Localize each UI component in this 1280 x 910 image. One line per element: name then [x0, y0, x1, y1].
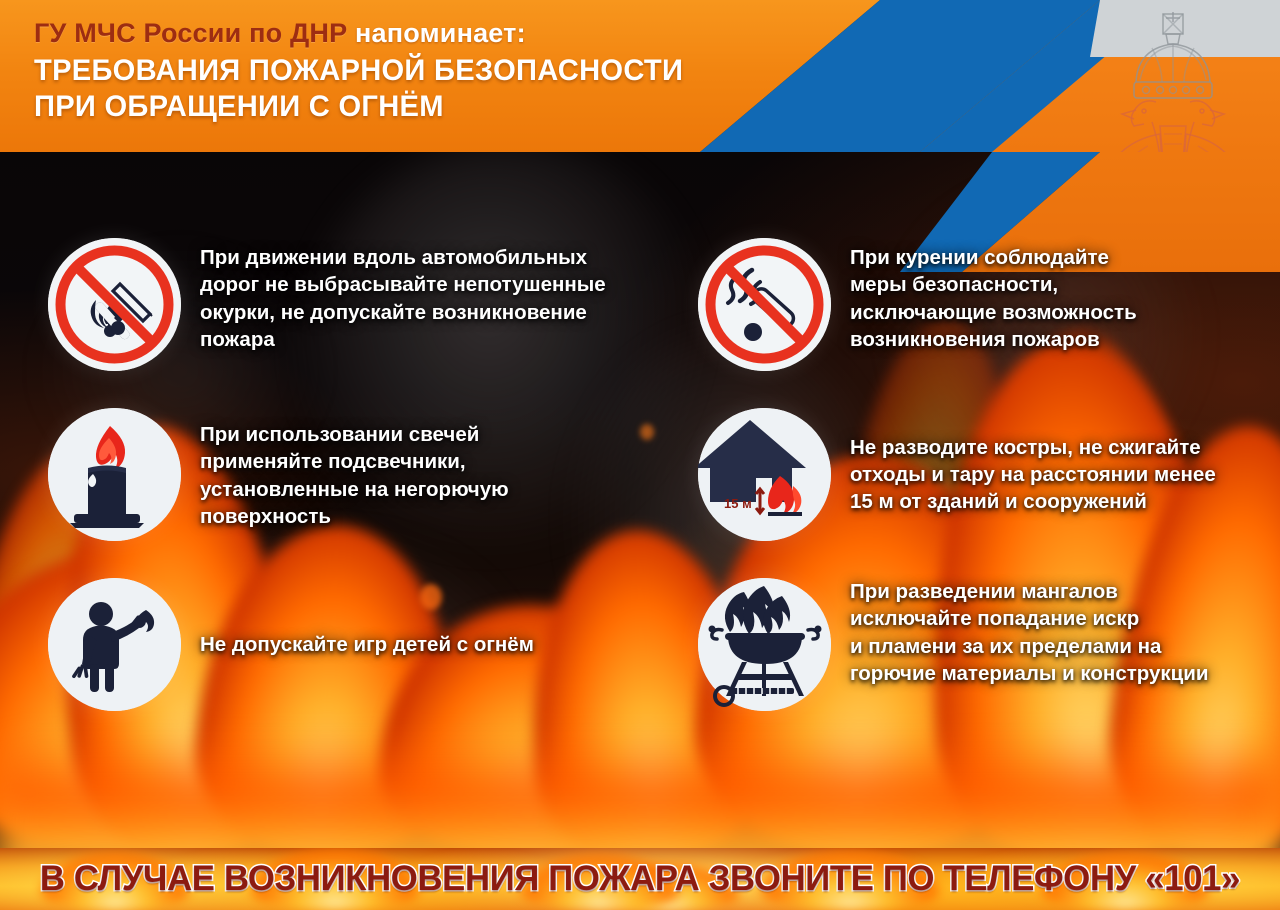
rule-item: При движении вдоль автомобильных дорог н… — [48, 238, 606, 371]
rule-icon-badge — [48, 578, 181, 711]
rule-item: При разведении мангалов исключайте попад… — [698, 578, 1208, 711]
rule-item: Не допускайте игр детей с огнём — [48, 578, 534, 711]
no-smoking-prohibition-icon — [698, 238, 831, 371]
header-subtitle: ГУ МЧС России по ДНР напоминает: — [34, 18, 703, 49]
rules-grid: При движении вдоль автомобильных дорог н… — [0, 200, 1280, 760]
candle-holder-icon — [48, 408, 181, 541]
rule-text: Не разводите костры, не сжигайте отходы … — [850, 434, 1216, 516]
child-playing-with-matches-icon — [48, 578, 181, 711]
rule-item: При использовании свечей применяйте подс… — [48, 408, 509, 541]
rule-icon-badge — [48, 408, 181, 541]
header-title-line-2: ПРИ ОБРАЩЕНИИ С ОГНЁМ — [34, 90, 683, 124]
rule-item: При курении соблюдайте меры безопасности… — [698, 238, 1137, 371]
barbecue-grill-fire-icon — [698, 578, 831, 711]
rule-text: При использовании свечей применяйте подс… — [200, 421, 509, 530]
rule-icon-badge — [698, 578, 831, 711]
mchs-eagle-emblem-icon — [1078, 6, 1268, 152]
header-reminds-word: напоминает: — [347, 18, 525, 48]
house-fire-distance-icon: 15 м — [698, 408, 831, 541]
header-text-block: ГУ МЧС России по ДНР напоминает: ТРЕБОВА… — [34, 18, 703, 124]
header-title-line-1: ТРЕБОВАНИЯ ПОЖАРНОЙ БЕЗОПАСНОСТИ — [34, 54, 683, 88]
emergency-call-banner: В СЛУЧАЕ ВОЗНИКНОВЕНИЯ ПОЖАРА ЗВОНИТЕ ПО… — [0, 848, 1280, 910]
no-open-flame-match-prohibition-icon — [48, 238, 181, 371]
distance-label: 15 м — [724, 496, 752, 511]
rule-text: При движении вдоль автомобильных дорог н… — [200, 244, 606, 353]
rule-icon-badge — [698, 238, 831, 371]
rule-text: При разведении мангалов исключайте попад… — [850, 578, 1208, 687]
rule-text: При курении соблюдайте меры безопасности… — [850, 244, 1137, 353]
emergency-call-text: В СЛУЧАЕ ВОЗНИКНОВЕНИЯ ПОЖАРА ЗВОНИТЕ ПО… — [6, 859, 1273, 899]
header-org-name: ГУ МЧС России по ДНР — [34, 18, 347, 48]
rule-icon-badge: 15 м — [698, 408, 831, 541]
poster-header: ГУ МЧС России по ДНР напоминает: ТРЕБОВА… — [0, 0, 1280, 152]
rule-icon-badge — [48, 238, 181, 371]
rule-item: 15 м Не разводите костры, не сжигайте от… — [698, 408, 1216, 541]
rule-text: Не допускайте игр детей с огнём — [200, 631, 534, 658]
